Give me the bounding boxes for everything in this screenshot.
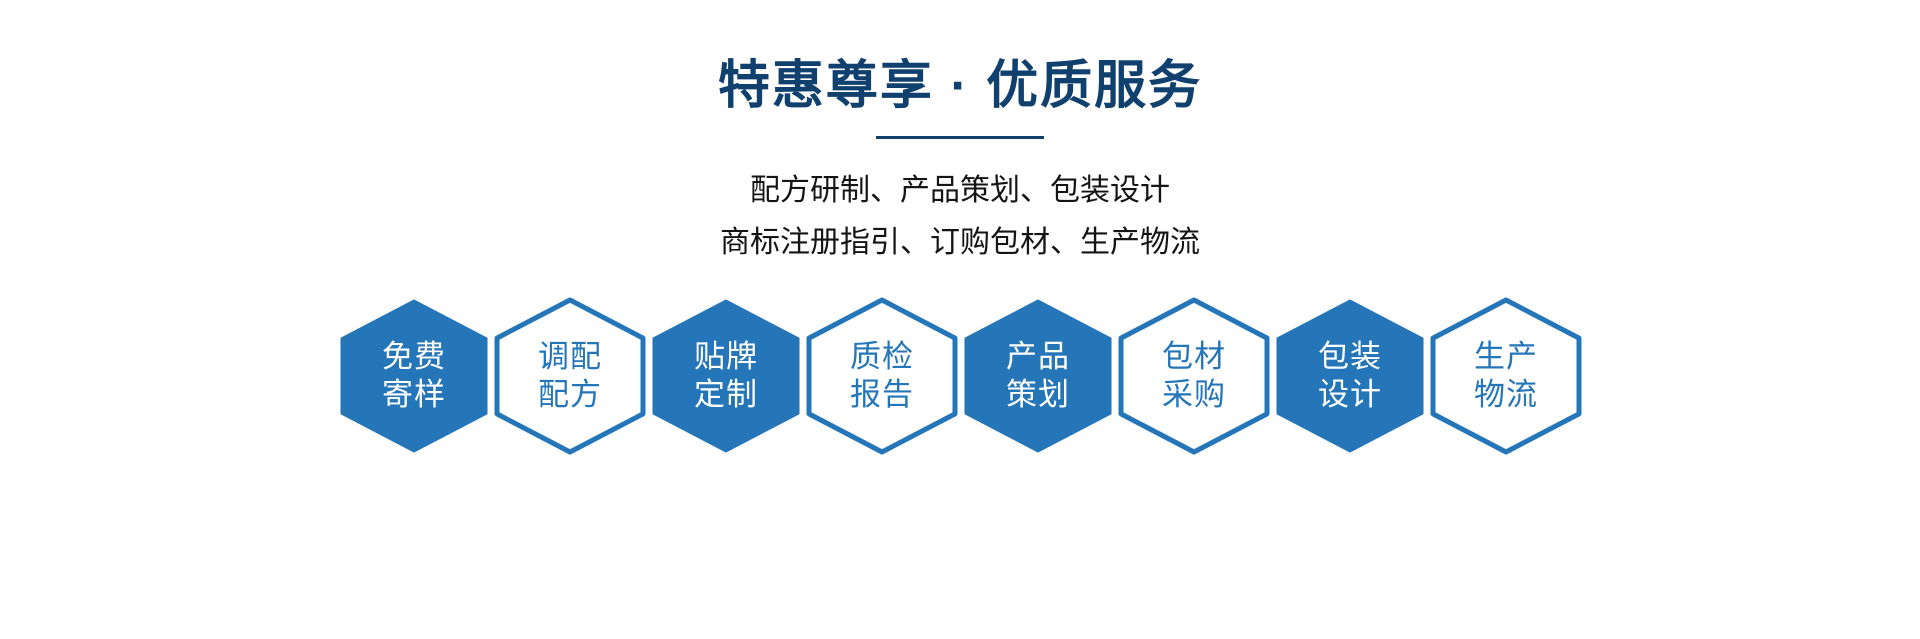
service-hexagon[interactable]: 贴牌 定制 bbox=[650, 297, 802, 455]
service-hexagon[interactable]: 包材 采购 bbox=[1118, 297, 1270, 455]
hexagon-shape-icon bbox=[338, 297, 490, 455]
title-block: 特惠尊享 · 优质服务 bbox=[718, 58, 1202, 139]
hexagon-shape-icon bbox=[1430, 297, 1582, 455]
hexagon-shape-icon bbox=[650, 297, 802, 455]
subtitle-block: 配方研制、产品策划、包装设计 商标注册指引、订购包材、生产物流 bbox=[720, 172, 1200, 261]
hexagon-shape-icon bbox=[1274, 297, 1426, 455]
service-hexagon[interactable]: 产品 策划 bbox=[962, 297, 1114, 455]
promo-banner: 特惠尊享 · 优质服务 配方研制、产品策划、包装设计 商标注册指引、订购包材、生… bbox=[0, 0, 1920, 639]
subtitle-line-2: 商标注册指引、订购包材、生产物流 bbox=[720, 224, 1200, 262]
service-hexagon[interactable]: 免费 寄样 bbox=[338, 297, 490, 455]
hexagon-shape-icon bbox=[1118, 297, 1270, 455]
hexagon-shape-icon bbox=[494, 297, 646, 455]
service-hexagon-row: 免费 寄样调配 配方贴牌 定制质检 报告产品 策划包材 采购包装 设计生产 物流 bbox=[338, 297, 1582, 455]
subtitle-line-1: 配方研制、产品策划、包装设计 bbox=[750, 172, 1170, 210]
title-divider bbox=[876, 136, 1044, 139]
service-hexagon[interactable]: 调配 配方 bbox=[494, 297, 646, 455]
service-hexagon[interactable]: 质检 报告 bbox=[806, 297, 958, 455]
page-title: 特惠尊享 · 优质服务 bbox=[718, 58, 1202, 114]
service-hexagon[interactable]: 生产 物流 bbox=[1430, 297, 1582, 455]
service-hexagon[interactable]: 包装 设计 bbox=[1274, 297, 1426, 455]
hexagon-shape-icon bbox=[962, 297, 1114, 455]
hexagon-shape-icon bbox=[806, 297, 958, 455]
